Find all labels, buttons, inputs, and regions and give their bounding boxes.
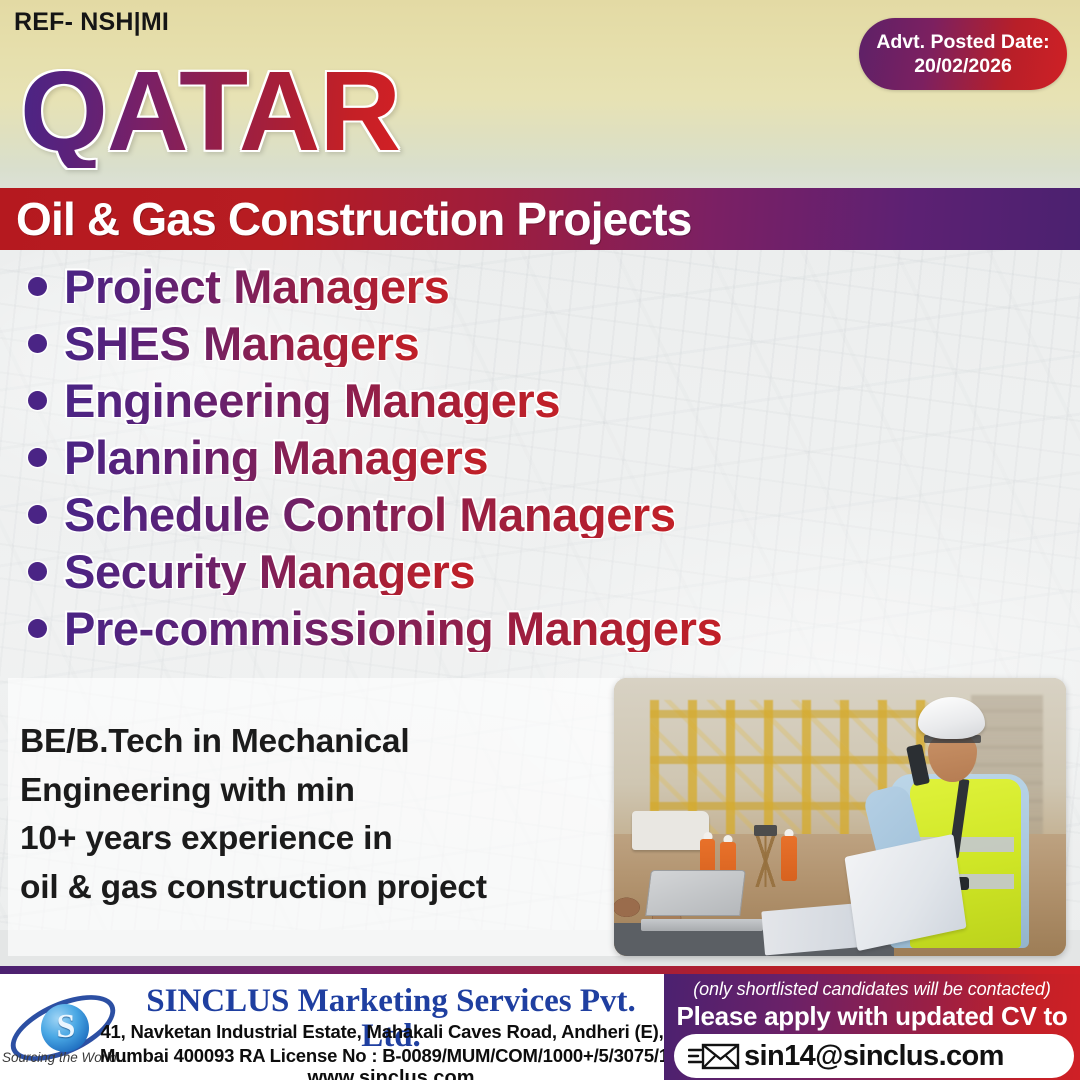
country-title: QATAR — [20, 55, 400, 168]
posted-date-label: Advt. Posted Date: — [876, 30, 1049, 54]
qualification-line-4: oil & gas construction project — [20, 864, 610, 913]
footer: S Sourcing the World... SINCLUS Marketin… — [0, 966, 1080, 1080]
qualification-line-2: Engineering with min — [20, 767, 610, 816]
job-advert-poster: REF- NSH|MI Advt. Posted Date: 20/02/202… — [0, 0, 1080, 1080]
apply-panel: (only shortlisted candidates will be con… — [664, 974, 1080, 1080]
reference-code: REF- NSH|MI — [14, 8, 169, 37]
job-title: Engineering Managers — [64, 377, 560, 425]
list-item: Schedule Control Managers — [18, 486, 1018, 543]
list-item: SHES Managers — [18, 315, 1018, 372]
job-title: Pre-commissioning Managers — [64, 605, 722, 653]
job-list: Project Managers SHES Managers Engineeri… — [18, 258, 1018, 657]
posted-date-badge: Advt. Posted Date: 20/02/2026 — [859, 18, 1067, 90]
apply-instruction: Please apply with updated CV to — [664, 1001, 1080, 1032]
photo-engineer — [858, 692, 1057, 956]
bullet-icon — [28, 391, 47, 410]
posted-date-value: 20/02/2026 — [914, 54, 1012, 78]
list-item: Engineering Managers — [18, 372, 1018, 429]
bullet-icon — [28, 619, 47, 638]
bullet-icon — [28, 277, 47, 296]
list-item: Security Managers — [18, 543, 1018, 600]
bullet-icon — [28, 334, 47, 353]
qualification-line-1: BE/B.Tech in Mechanical — [20, 718, 610, 767]
qualification-text: BE/B.Tech in Mechanical Engineering with… — [20, 718, 610, 912]
logo-monogram: S — [51, 1010, 81, 1044]
shortlist-note: (only shortlisted candidates will be con… — [664, 979, 1080, 1000]
site-engineer-photo — [614, 678, 1066, 956]
apply-email[interactable]: sin14@sinclus.com — [744, 1040, 1004, 1073]
footer-divider — [0, 966, 1080, 974]
envelope-icon — [688, 1041, 740, 1071]
bullet-icon — [28, 562, 47, 581]
job-title: Project Managers — [64, 263, 449, 311]
company-panel: S Sourcing the World... SINCLUS Marketin… — [0, 974, 664, 1080]
list-item: Project Managers — [18, 258, 1018, 315]
company-website[interactable]: www.sinclus.com — [118, 1067, 664, 1080]
job-title: Schedule Control Managers — [64, 491, 676, 539]
bullet-icon — [28, 448, 47, 467]
job-title: Security Managers — [64, 548, 475, 596]
job-title: Planning Managers — [64, 434, 488, 482]
company-address-line-1: 41, Navketan Industrial Estate, Mahakali… — [100, 1021, 664, 1043]
category-banner: Oil & Gas Construction Projects — [0, 188, 1080, 250]
email-pill[interactable]: sin14@sinclus.com — [674, 1034, 1074, 1078]
photo-laptop — [641, 870, 763, 931]
company-address-line-2: Mumbai 400093 RA License No : B-0089/MUM… — [100, 1045, 664, 1067]
category-banner-title: Oil & Gas Construction Projects — [16, 196, 692, 242]
list-item: Planning Managers — [18, 429, 1018, 486]
job-title: SHES Managers — [64, 320, 419, 368]
photo-van — [632, 811, 709, 850]
bullet-icon — [28, 505, 47, 524]
qualification-line-3: 10+ years experience in — [20, 815, 610, 864]
photo-engineer-helmet — [918, 697, 986, 739]
list-item: Pre-commissioning Managers — [18, 600, 1018, 657]
